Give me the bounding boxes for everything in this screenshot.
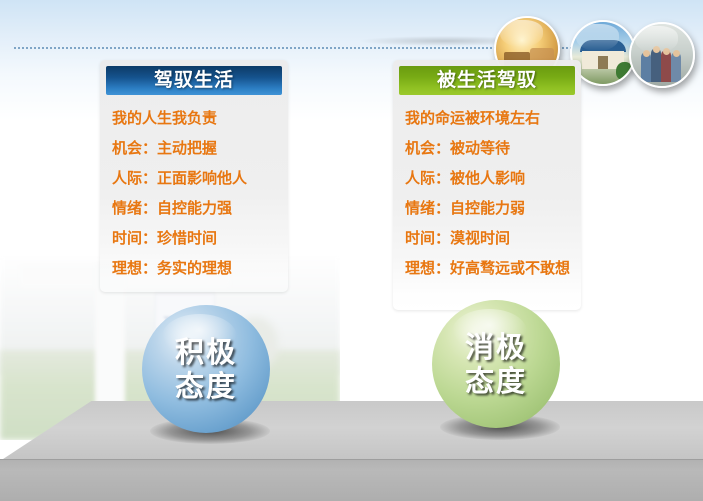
sphere-label-line-2: 态度 xyxy=(465,364,527,398)
thumbnail-gloss xyxy=(635,26,678,52)
list-item: 机会：主动把握 xyxy=(112,133,280,163)
presentation-slide: HR xyxy=(0,0,703,501)
sphere-label-positive: 积极 态度 xyxy=(175,335,237,403)
list-item: 理想：好高骛远或不敢想 xyxy=(405,253,573,283)
sphere-negative-attitude: 消极 态度 xyxy=(432,300,560,428)
list-item: 理想：务实的理想 xyxy=(112,253,280,283)
panel-list-driven-by-life: 我的命运被环境左右 机会：被动等待 人际：被他人影响 情绪：自控能力弱 时间：漠… xyxy=(393,103,581,283)
thumbnail-people[interactable] xyxy=(629,22,695,88)
sphere-positive-attitude: 积极 态度 xyxy=(142,305,270,433)
sphere-label-negative: 消极 态度 xyxy=(465,330,527,398)
list-item: 我的命运被环境左右 xyxy=(405,103,573,133)
person-head-4 xyxy=(673,50,680,57)
list-item: 机会：被动等待 xyxy=(405,133,573,163)
thumbnail-gloss xyxy=(500,20,543,46)
panel-list-drive-life: 我的人生我负责 机会：主动把握 人际：正面影响他人 情绪：自控能力强 时间：珍惜… xyxy=(100,103,288,283)
sphere-label-line-1: 消极 xyxy=(465,330,527,364)
panel-drive-life: 驾驭生活 我的人生我负责 机会：主动把握 人际：正面影响他人 情绪：自控能力强 … xyxy=(100,60,288,283)
list-item: 我的人生我负责 xyxy=(112,103,280,133)
pedestal-front-face xyxy=(0,460,703,501)
list-item: 情绪：自控能力弱 xyxy=(405,193,573,223)
house-door xyxy=(598,56,608,69)
sphere-label-line-2: 态度 xyxy=(175,369,237,403)
sphere-label-line-1: 积极 xyxy=(175,335,237,369)
pedestal-top-surface xyxy=(0,401,703,461)
panel-header-driven-by-life: 被生活驾驭 xyxy=(399,66,575,95)
thumbnail-gloss xyxy=(576,24,619,50)
panel-driven-by-life: 被生活驾驭 我的命运被环境左右 机会：被动等待 人际：被他人影响 情绪：自控能力… xyxy=(393,60,581,283)
person-body-2 xyxy=(651,48,661,82)
list-item: 时间：珍惜时间 xyxy=(112,223,280,253)
list-item: 人际：被他人影响 xyxy=(405,163,573,193)
panel-header-drive-life: 驾驭生活 xyxy=(106,66,282,95)
list-item: 情绪：自控能力强 xyxy=(112,193,280,223)
list-item: 人际：正面影响他人 xyxy=(112,163,280,193)
list-item: 时间：漠视时间 xyxy=(405,223,573,253)
